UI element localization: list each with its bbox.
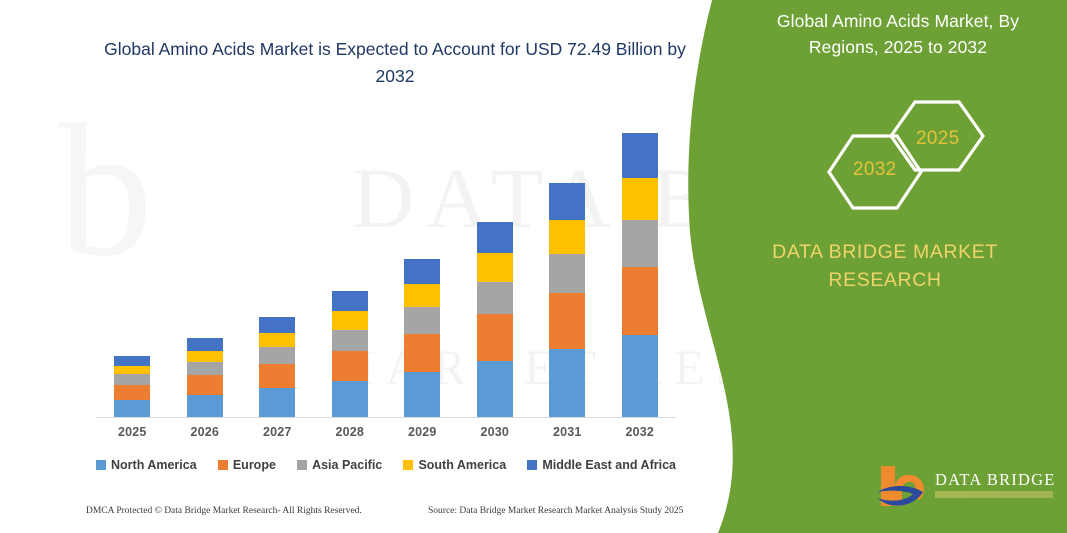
bar-segment xyxy=(622,133,658,178)
data-bridge-logo-tagline xyxy=(935,491,1053,498)
footer: DMCA Protected © Data Bridge Market Rese… xyxy=(0,506,700,526)
x-axis-label-2026: 2026 xyxy=(175,425,235,439)
legend-item-asia-pacific[interactable]: Asia Pacific xyxy=(297,458,382,472)
data-bridge-logo-text: DATA BRIDGE xyxy=(935,470,1056,490)
legend-swatch xyxy=(218,460,228,470)
bar-segment xyxy=(332,351,368,381)
bar-segment xyxy=(114,356,150,366)
legend-label: Europe xyxy=(233,458,276,472)
legend-item-europe[interactable]: Europe xyxy=(218,458,276,472)
bar-segment xyxy=(622,335,658,417)
bar-segment xyxy=(332,311,368,329)
bar-2028 xyxy=(332,291,368,417)
bar-2032 xyxy=(622,133,658,417)
bar-segment xyxy=(404,259,440,284)
chart-legend: North AmericaEuropeAsia PacificSouth Ame… xyxy=(96,455,676,475)
legend-item-south-america[interactable]: South America xyxy=(403,458,506,472)
bar-segment xyxy=(114,366,150,375)
x-axis-label-2029: 2029 xyxy=(392,425,452,439)
x-axis-label-2025: 2025 xyxy=(102,425,162,439)
bar-segment xyxy=(187,362,223,375)
legend-swatch xyxy=(297,460,307,470)
bar-segment xyxy=(187,338,223,351)
bar-segment xyxy=(259,364,295,388)
green-panel-content: Global Amino Acids Market, By Regions, 2… xyxy=(700,0,1067,533)
bar-2031 xyxy=(549,183,585,417)
brand-line-1: DATA BRIDGE MARKET xyxy=(720,238,1050,266)
bar-segment xyxy=(622,220,658,268)
chart-baseline xyxy=(96,417,676,418)
bar-segment xyxy=(332,330,368,351)
data-bridge-logo: DATA BRIDGE xyxy=(875,462,1060,518)
legend-swatch xyxy=(527,460,537,470)
bar-segment xyxy=(549,220,585,254)
bar-segment xyxy=(622,267,658,334)
bar-segment xyxy=(477,253,513,282)
bar-segment xyxy=(477,282,513,315)
bar-2026 xyxy=(187,338,223,417)
x-axis-label-2032: 2032 xyxy=(610,425,670,439)
legend-item-north-america[interactable]: North America xyxy=(96,458,197,472)
bar-segment xyxy=(259,347,295,364)
legend-label: Middle East and Africa xyxy=(542,458,676,472)
x-axis-label-2030: 2030 xyxy=(465,425,525,439)
bar-segment xyxy=(114,385,150,400)
hexagon-2032-label: 2032 xyxy=(853,159,896,181)
footer-copyright: DMCA Protected © Data Bridge Market Rese… xyxy=(86,506,362,516)
chart-title: Global Amino Acids Market is Expected to… xyxy=(90,36,700,90)
infographic-root: b DATA BRIDGE MARKET RESEARCH Global Ami… xyxy=(0,0,1067,533)
bar-segment xyxy=(404,307,440,334)
bar-segment xyxy=(549,349,585,417)
x-axis-label-2028: 2028 xyxy=(320,425,380,439)
bar-2030 xyxy=(477,222,513,417)
bar-2027 xyxy=(259,317,295,417)
legend-swatch xyxy=(96,460,106,470)
legend-item-middle-east-and-africa[interactable]: Middle East and Africa xyxy=(527,458,676,472)
data-bridge-logo-mark xyxy=(875,462,933,514)
bar-segment xyxy=(332,381,368,417)
bar-segment xyxy=(549,183,585,220)
bar-segment xyxy=(549,254,585,294)
bar-2029 xyxy=(404,259,440,417)
bar-segment xyxy=(259,388,295,417)
hexagon-2025-label: 2025 xyxy=(916,128,959,150)
brand-name: DATA BRIDGE MARKET RESEARCH xyxy=(720,238,1050,294)
bar-segment xyxy=(477,361,513,417)
bar-segment xyxy=(114,374,150,384)
bar-segment xyxy=(259,317,295,333)
legend-label: South America xyxy=(418,458,506,472)
x-axis-label-2027: 2027 xyxy=(247,425,307,439)
x-axis-label-2031: 2031 xyxy=(537,425,597,439)
footer-source: Source: Data Bridge Market Research Mark… xyxy=(428,506,683,516)
chart-x-axis: 20252026202720282029203020312032 xyxy=(96,425,676,445)
legend-label: North America xyxy=(111,458,197,472)
bar-segment xyxy=(622,178,658,220)
bar-segment xyxy=(332,291,368,311)
legend-label: Asia Pacific xyxy=(312,458,382,472)
bar-segment xyxy=(259,333,295,348)
brand-line-2: RESEARCH xyxy=(720,266,1050,294)
bar-segment xyxy=(187,351,223,363)
bar-segment xyxy=(404,372,440,417)
hexagon-group xyxy=(815,92,1015,222)
bar-segment xyxy=(114,400,150,417)
bar-segment xyxy=(187,375,223,394)
legend-swatch xyxy=(403,460,413,470)
chart-plot-area xyxy=(96,120,676,418)
bar-segment xyxy=(404,284,440,307)
panel-title: Global Amino Acids Market, By Regions, 2… xyxy=(748,8,1048,60)
bar-segment xyxy=(549,293,585,349)
bar-segment xyxy=(477,222,513,253)
bar-segment xyxy=(187,395,223,417)
bar-segment xyxy=(404,334,440,372)
bar-segment xyxy=(477,314,513,361)
bar-2025 xyxy=(114,356,150,417)
